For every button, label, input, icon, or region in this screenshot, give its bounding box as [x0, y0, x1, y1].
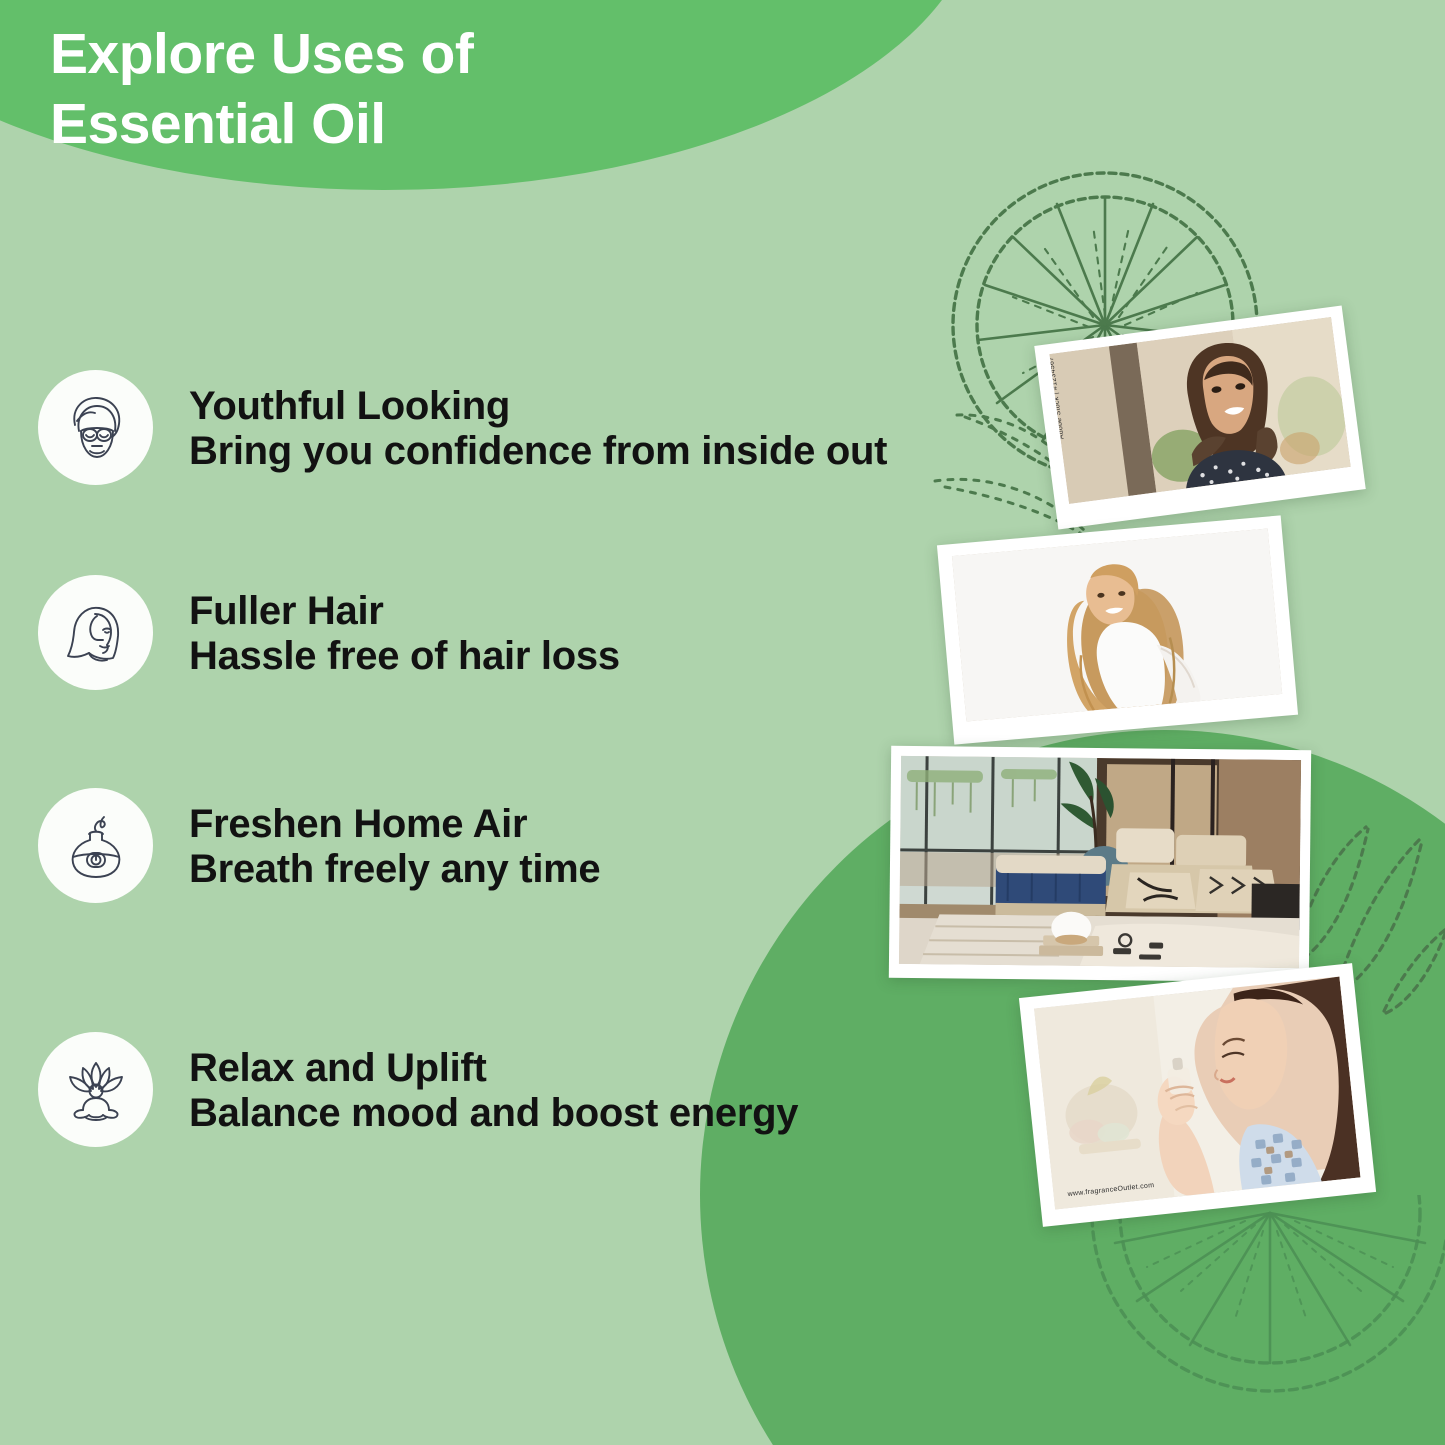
photo-smiling-woman-image: Adobe Stock | #1234567 [1049, 317, 1350, 504]
photo-living-room-image [899, 756, 1301, 968]
photo-long-blonde-hair-image [952, 529, 1282, 722]
photo-collage: Adobe Stock | #1234567 [0, 0, 1445, 1445]
photo-perfume-application: www.fragranceOutlet.com [1019, 963, 1376, 1227]
photo-long-blonde-hair [937, 515, 1298, 744]
photo-perfume-application-image: www.fragranceOutlet.com [1034, 977, 1360, 1210]
photo-smiling-woman: Adobe Stock | #1234567 [1034, 306, 1365, 530]
poster-canvas: Explore Uses of Essential Oil [0, 0, 1445, 1445]
photo-living-room [889, 746, 1311, 982]
